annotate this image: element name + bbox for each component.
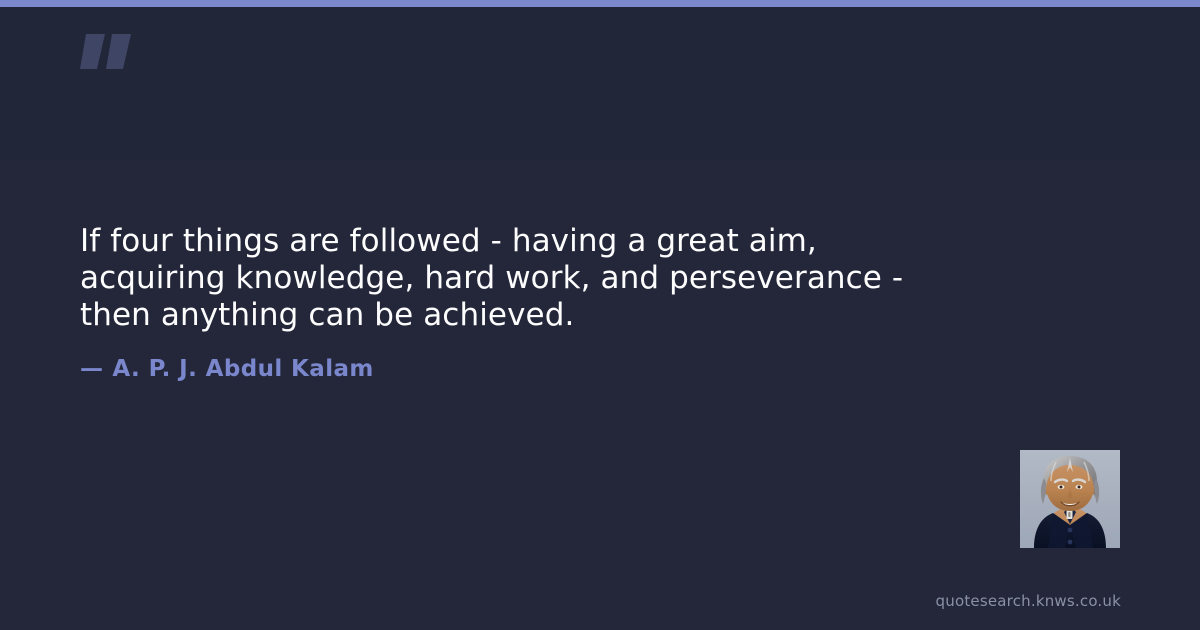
author-portrait xyxy=(1020,450,1120,548)
source-watermark: quotesearch.knws.co.uk xyxy=(936,592,1121,610)
quote-card: If four things are followed - having a g… xyxy=(0,0,1200,630)
top-accent-bar xyxy=(0,0,1200,7)
author-attribution: — A. P. J. Abdul Kalam xyxy=(80,356,374,382)
double-open-quote-icon xyxy=(78,22,148,92)
author-name: A. P. J. Abdul Kalam xyxy=(112,356,373,382)
quote-text: If four things are followed - having a g… xyxy=(80,223,960,334)
author-dash: — xyxy=(80,356,103,382)
